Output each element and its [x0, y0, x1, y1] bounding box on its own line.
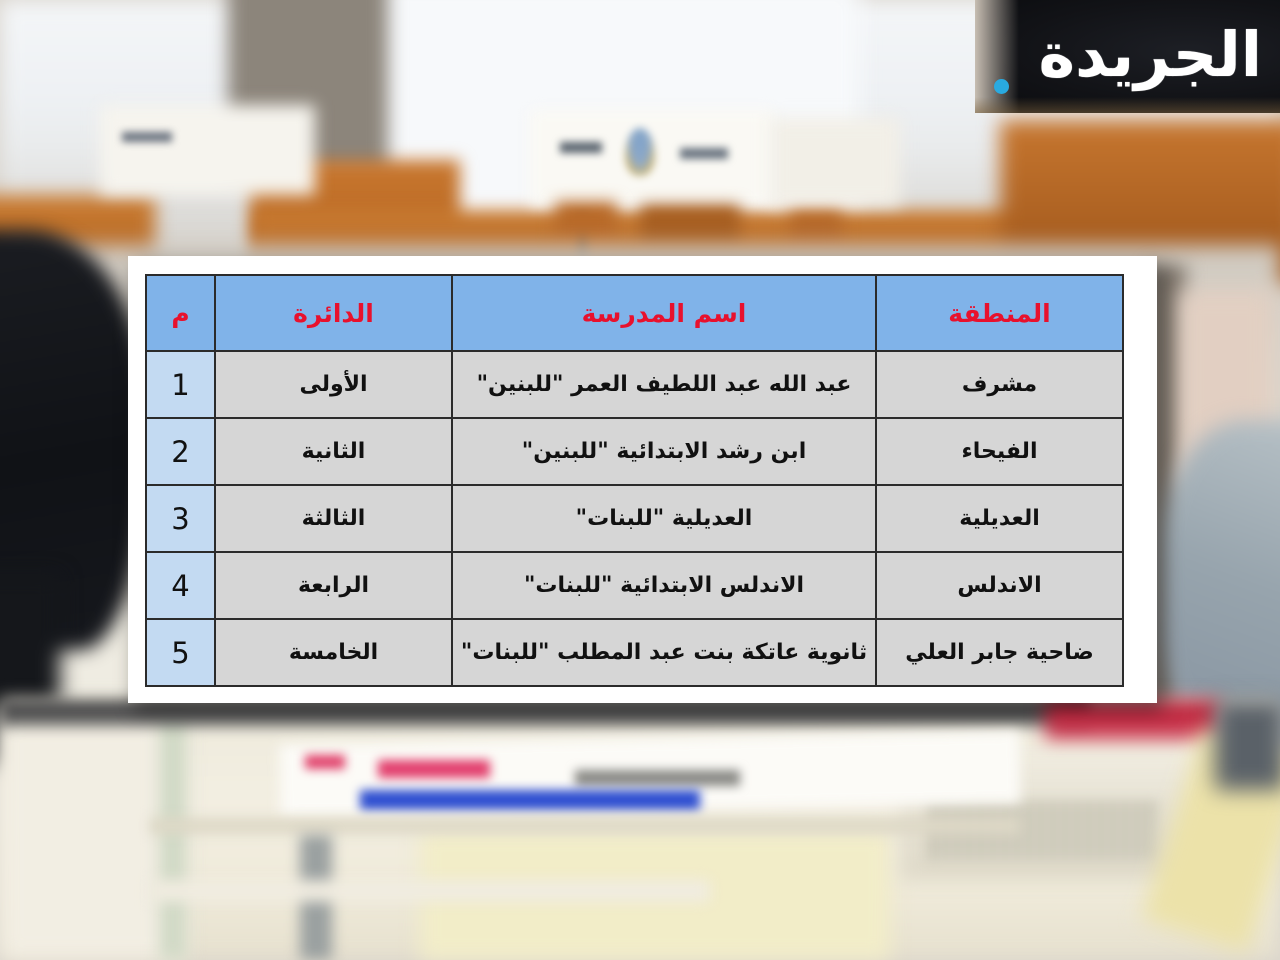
bg-podium-sign-right: [770, 118, 900, 206]
bg-lower-green-edge: [160, 710, 186, 960]
bg-chair-b: [640, 205, 740, 247]
bg-side-banner: [100, 105, 315, 195]
cell-school: عبد الله عبد اللطيف العمر "للبنين": [452, 351, 876, 418]
cell-district: الأولى: [215, 351, 452, 418]
cell-school: ابن رشد الابتدائية "للبنين": [452, 418, 876, 485]
table-row: الاندلس الاندلس الابتدائية "للبنات" الرا…: [146, 552, 1123, 619]
bg-shelf-upper: [150, 818, 1020, 834]
logo-wordmark: الجريدة: [1039, 16, 1262, 94]
cell-district: الرابعة: [215, 552, 452, 619]
bg-dark-right-object: [1215, 700, 1280, 790]
logo-bottom-fade: [975, 97, 1280, 113]
column-header-number: م: [146, 275, 215, 351]
logo-dot-icon: [994, 79, 1009, 94]
bg-side-banner-text: [122, 132, 172, 142]
cell-number: 3: [146, 485, 215, 552]
schools-table-card: المنطقة اسم المدرسة الدائرة م مشرف عبد ا…: [128, 256, 1157, 703]
cell-district: الثالثة: [215, 485, 452, 552]
cell-area: مشرف: [876, 351, 1123, 418]
schools-table: المنطقة اسم المدرسة الدائرة م مشرف عبد ا…: [145, 274, 1124, 687]
al-jarida-logo: الجريدة: [975, 0, 1280, 113]
bg-lower-banner-pink-a: [305, 755, 345, 769]
bg-lower-banner-pink-b: [378, 760, 490, 778]
table-row: العديلية العديلية "للبنات" الثالثة 3: [146, 485, 1123, 552]
cell-district: الخامسة: [215, 619, 452, 686]
cell-number: 2: [146, 418, 215, 485]
column-header-area: المنطقة: [876, 275, 1123, 351]
cell-district: الثانية: [215, 418, 452, 485]
table-row: مشرف عبد الله عبد اللطيف العمر "للبنين" …: [146, 351, 1123, 418]
bg-lower-banner-grey-text: [575, 770, 740, 786]
cell-school: ثانوية عاتكة بنت عبد المطلب "للبنات": [452, 619, 876, 686]
cell-number: 4: [146, 552, 215, 619]
bg-lower-left-panel: [0, 720, 185, 960]
cell-area: الاندلس: [876, 552, 1123, 619]
cell-number: 5: [146, 619, 215, 686]
bg-lower-red-strip: [1045, 700, 1220, 740]
bg-lower-dark-strip: [0, 700, 1090, 726]
cell-area: الفيحاء: [876, 418, 1123, 485]
cell-area: ضاحية جابر العلي: [876, 619, 1123, 686]
table-header-row: المنطقة اسم المدرسة الدائرة م: [146, 275, 1123, 351]
table-row: الفيحاء ابن رشد الابتدائية "للبنين" الثا…: [146, 418, 1123, 485]
cell-area: العديلية: [876, 485, 1123, 552]
bg-podium-sign-text-right: [560, 142, 602, 153]
bg-shelf-lower: [150, 880, 710, 902]
cell-school: الاندلس الابتدائية "للبنات": [452, 552, 876, 619]
table-row: ضاحية جابر العلي ثانوية عاتكة بنت عبد ال…: [146, 619, 1123, 686]
column-header-district: الدائرة: [215, 275, 452, 351]
bg-podium-sign-text-left: [680, 148, 728, 159]
cell-school: العديلية "للبنات": [452, 485, 876, 552]
column-header-school: اسم المدرسة: [452, 275, 876, 351]
bg-lower-banner-blue-text: [360, 790, 700, 810]
cell-number: 1: [146, 351, 215, 418]
bg-chair-a: [555, 202, 617, 242]
